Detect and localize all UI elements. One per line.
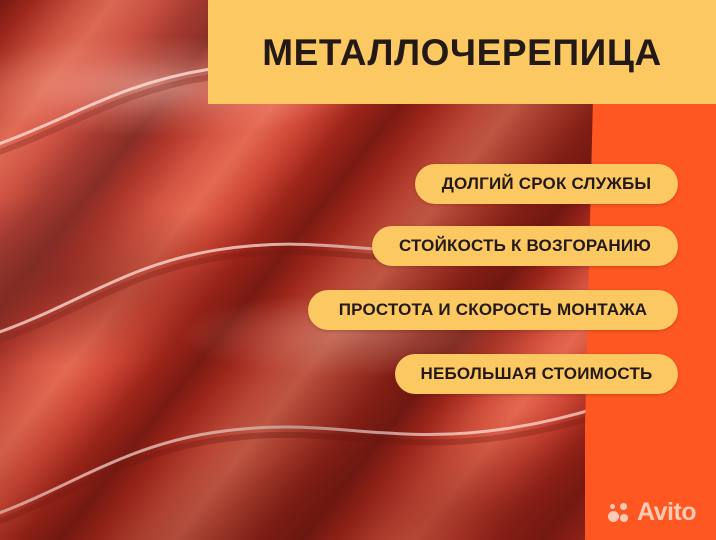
title-banner: МЕТАЛЛОЧЕРЕПИЦА [208, 0, 716, 104]
avito-dots-icon [608, 502, 633, 524]
feature-badge-label: ДОЛГИЙ СРОК СЛУЖБЫ [442, 174, 652, 194]
feature-badge-durability: ДОЛГИЙ СРОК СЛУЖБЫ [415, 164, 678, 204]
feature-badge-label: СТОЙКОСТЬ К ВОЗГОРАНИЮ [399, 236, 651, 256]
advertisement-banner: МЕТАЛЛОЧЕРЕПИЦА ДОЛГИЙ СРОК СЛУЖБЫ СТОЙК… [0, 0, 716, 540]
feature-badge-label: ПРОСТОТА И СКОРОСТЬ МОНТАЖА [339, 300, 648, 320]
avito-watermark: Avito [608, 500, 696, 525]
page-title: МЕТАЛЛОЧЕРЕПИЦА [262, 34, 662, 71]
avito-wordmark: Avito [637, 500, 696, 525]
feature-badge-label: НЕБОЛЬШАЯ СТОИМОСТЬ [421, 364, 653, 384]
feature-badge-easy-installation: ПРОСТОТА И СКОРОСТЬ МОНТАЖА [308, 290, 678, 330]
feature-badge-fire-resistance: СТОЙКОСТЬ К ВОЗГОРАНИЮ [372, 226, 678, 266]
feature-badge-low-price: НЕБОЛЬШАЯ СТОИМОСТЬ [395, 354, 678, 394]
